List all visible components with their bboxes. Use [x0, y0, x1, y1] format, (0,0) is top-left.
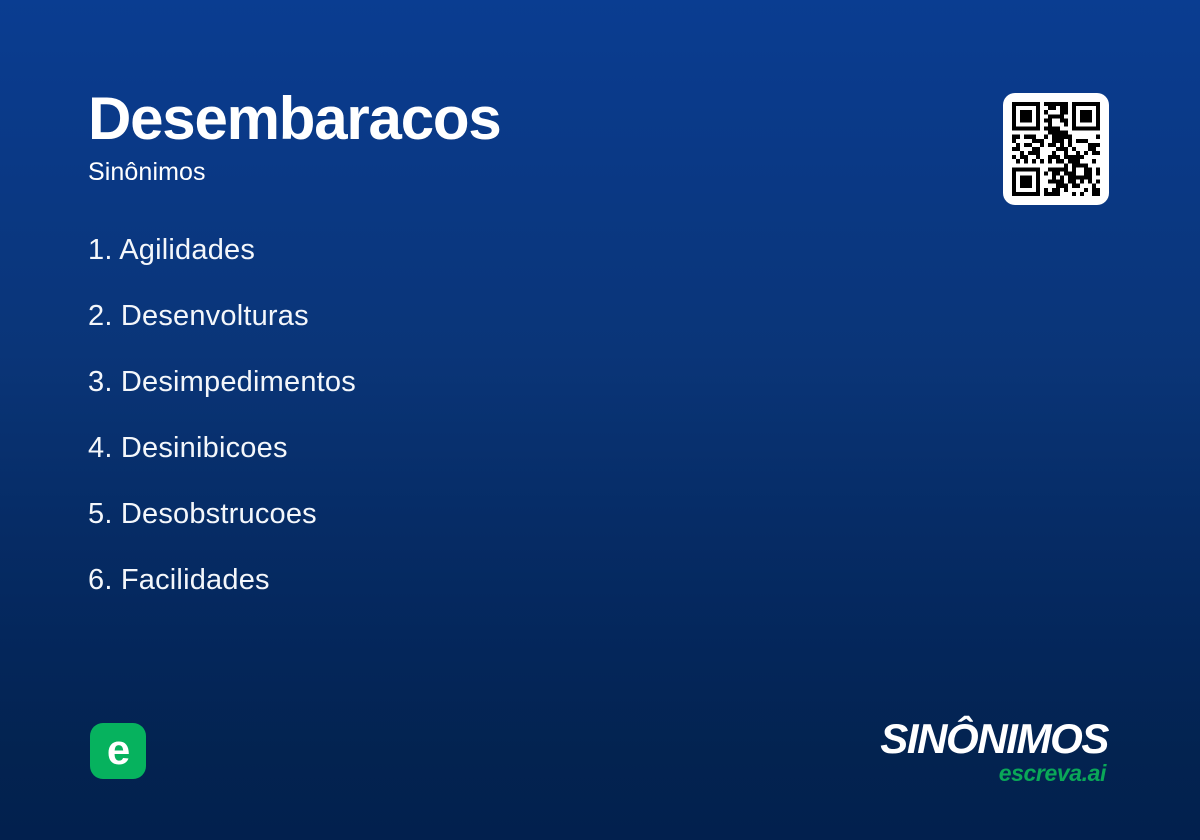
list-item-index: 3.	[88, 366, 113, 398]
page-title: Desembaracos	[88, 88, 788, 150]
list-item-index: 5.	[88, 498, 113, 530]
brand-badge-letter: e	[107, 729, 129, 771]
card-header: Desembaracos Sinônimos	[88, 88, 788, 187]
wordmark-primary: SINÔNIMOS	[880, 718, 1108, 760]
list-item: 2. Desenvolturas	[88, 302, 848, 368]
escreva-e-logo-icon[interactable]: e	[90, 723, 146, 779]
list-item: 4. Desinibicoes	[88, 434, 848, 500]
qr-code[interactable]	[1003, 93, 1109, 205]
list-item-index: 2.	[88, 300, 113, 332]
list-item-label: Desinibicoes	[113, 432, 288, 464]
list-item: 6. Facilidades	[88, 566, 848, 632]
list-item-index: 4.	[88, 432, 113, 464]
list-item-label: Agilidades	[113, 234, 255, 266]
page-subtitle: Sinônimos	[88, 158, 788, 187]
list-item-index: 1.	[88, 234, 113, 266]
list-item-label: Facilidades	[113, 564, 270, 596]
list-item-label: Desimpedimentos	[113, 366, 356, 398]
synonyms-list: 1. Agilidades2. Desenvolturas3. Desimped…	[88, 236, 848, 632]
list-item-label: Desobstrucoes	[113, 498, 317, 530]
sinonimos-wordmark[interactable]: SINÔNIMOS escreva.ai	[880, 718, 1108, 785]
list-item-label: Desenvolturas	[113, 300, 309, 332]
synonyms-card: Desembaracos Sinônimos 1. Agilidades2. D…	[0, 0, 1200, 840]
list-item: 1. Agilidades	[88, 236, 848, 302]
list-item-index: 6.	[88, 564, 113, 596]
list-item: 3. Desimpedimentos	[88, 368, 848, 434]
qr-code-icon	[1012, 102, 1100, 196]
list-item: 5. Desobstrucoes	[88, 500, 848, 566]
wordmark-secondary: escreva.ai	[880, 762, 1106, 785]
